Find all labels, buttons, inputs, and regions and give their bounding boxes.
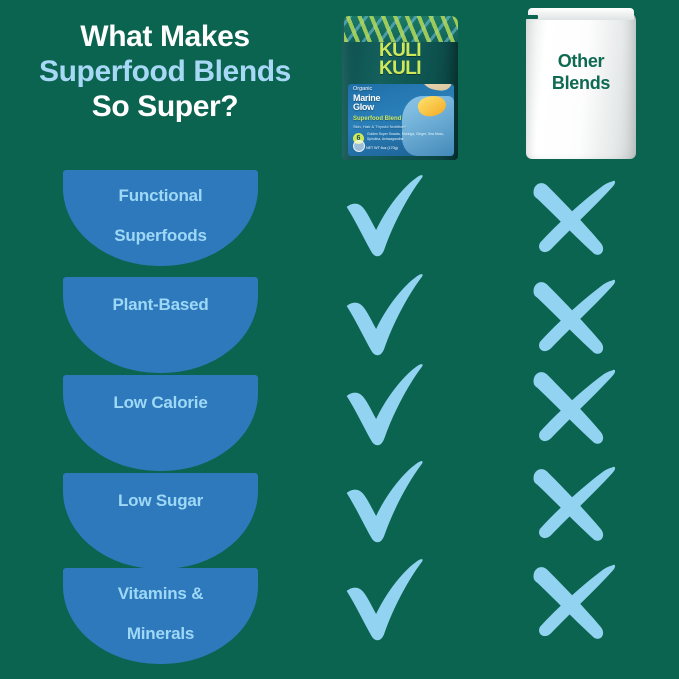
usda-organic-seal-icon xyxy=(353,140,365,152)
other-blends-line-1: Other xyxy=(526,51,636,73)
feature-line-1: Vitamins & xyxy=(118,584,204,604)
feature-text: Vitamins & Minerals xyxy=(118,584,204,644)
check-icon xyxy=(343,172,435,264)
feature-text: Plant-Based xyxy=(112,295,208,315)
check-icon xyxy=(343,458,435,550)
product-name-line-2: Glow xyxy=(353,103,380,112)
feature-line-2: Minerals xyxy=(118,624,204,644)
product-image-kuli-kuli: KULI KULI Organic Marine Glow Superfood … xyxy=(338,2,462,160)
label-product-name: Marine Glow xyxy=(353,94,380,112)
check-icon xyxy=(343,556,435,648)
label-ingredient-list: Golden Super Snacks, Moringa, Ginger, Se… xyxy=(367,132,454,142)
comparison-infographic: What Makes Superfood Blends So Super? KU… xyxy=(0,0,679,679)
feature-label-low-sugar: Low Sugar xyxy=(63,473,258,569)
feature-text: Low Calorie xyxy=(113,393,207,413)
cross-icon xyxy=(528,271,620,363)
feature-label-vitamins-minerals: Vitamins & Minerals xyxy=(63,568,258,664)
brand-logo: KULI KULI xyxy=(348,42,452,78)
title-line-1: What Makes xyxy=(0,20,330,55)
label-subtitle: Superfood Blend xyxy=(353,116,401,122)
label-net-weight: NET WT 6oz (170g) xyxy=(366,146,398,150)
feature-label-plant-based: Plant-Based xyxy=(63,277,258,373)
pouch-tear-notch xyxy=(524,15,538,19)
product-label-panel: Organic Marine Glow Superfood Blend Skin… xyxy=(348,84,454,156)
feature-label-functional-superfoods: Functional Superfoods xyxy=(63,170,258,266)
feature-text: Low Sugar xyxy=(118,491,203,511)
pouch-body: KULI KULI Organic Marine Glow Superfood … xyxy=(342,16,458,160)
label-organic: Organic xyxy=(353,87,372,93)
label-tagline: Skin, Hair & Thyroid Nutrition* xyxy=(353,125,406,129)
cross-icon xyxy=(528,458,620,550)
cross-icon xyxy=(528,172,620,264)
other-blends-label: Other Blends xyxy=(526,51,636,95)
feature-line-2: Superfoods xyxy=(114,226,206,246)
powder-scoop-illustration xyxy=(420,84,453,92)
brand-line-2: KULI xyxy=(348,60,452,78)
product-image-other-blends: Other Blends xyxy=(518,3,643,160)
check-icon xyxy=(343,271,435,363)
title-line-2: Superfood Blends xyxy=(0,55,330,90)
pouch-seal xyxy=(528,8,634,20)
cross-icon xyxy=(528,556,620,648)
feature-line-1: Functional xyxy=(114,186,206,206)
check-icon xyxy=(343,361,435,453)
feature-text: Functional Superfoods xyxy=(114,186,206,246)
other-blends-line-2: Blends xyxy=(526,73,636,95)
title-line-3: So Super? xyxy=(0,90,330,125)
cross-icon xyxy=(528,361,620,453)
feature-label-low-calorie: Low Calorie xyxy=(63,375,258,471)
pouch-top-pattern xyxy=(344,16,458,42)
page-title: What Makes Superfood Blends So Super? xyxy=(0,20,330,124)
